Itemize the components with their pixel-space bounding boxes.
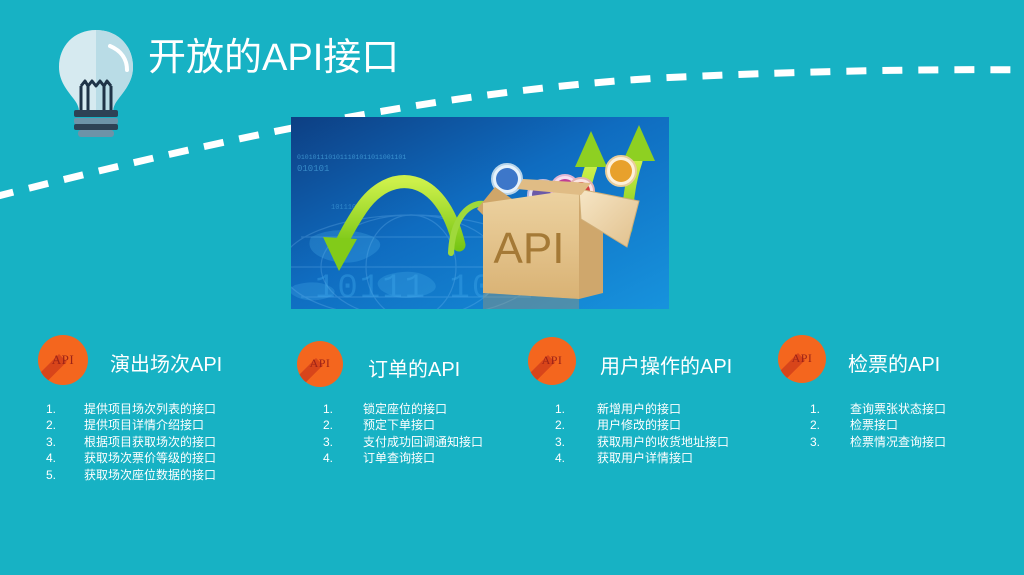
api-column-list-1: 1. 提供项目场次列表的接口 2. 提供项目详情介绍接口 3. 根据项目获取场次… — [46, 401, 216, 483]
bulb-base-2 — [74, 118, 118, 124]
lightbulb-icon — [52, 24, 140, 140]
list-item-text: 检票情况查询接口 — [850, 434, 946, 450]
list-item-text: 支付成功回调通知接口 — [363, 434, 483, 450]
api-badge-1: API — [38, 335, 88, 385]
list-item-number: 1. — [323, 401, 363, 417]
api-column-list-4: 1. 查询票张状态接口 2. 检票接口 3. 检票情况查询接口 — [810, 401, 946, 450]
list-item: 1. 查询票张状态接口 — [810, 401, 946, 417]
api-badge-4: API — [778, 335, 826, 383]
list-item: 2. 预定下单接口 — [323, 417, 483, 433]
list-item-number: 4. — [555, 450, 597, 466]
list-item: 2. 检票接口 — [810, 417, 946, 433]
api-badge-label: API — [778, 351, 826, 366]
list-item: 4. 订单查询接口 — [323, 450, 483, 466]
list-item-text: 预定下单接口 — [363, 417, 435, 433]
api-column-list-3: 1. 新增用户的接口 2. 用户修改的接口 3. 获取用户的收货地址接口 4. … — [555, 401, 729, 467]
list-item-number: 1. — [46, 401, 84, 417]
list-item-text: 获取场次票价等级的接口 — [84, 450, 216, 466]
list-item-text: 提供项目详情介绍接口 — [84, 417, 204, 433]
list-item-number: 3. — [810, 434, 850, 450]
list-item-text: 根据项目获取场次的接口 — [84, 434, 216, 450]
list-item-number: 5. — [46, 467, 84, 483]
list-item: 1. 锁定座位的接口 — [323, 401, 483, 417]
list-item: 3. 根据项目获取场次的接口 — [46, 434, 216, 450]
list-item: 3. 获取用户的收货地址接口 — [555, 434, 729, 450]
list-item-number: 4. — [46, 450, 84, 466]
list-item: 4. 获取场次票价等级的接口 — [46, 450, 216, 466]
api-badge-3: API — [528, 337, 576, 385]
list-item-text: 订单查询接口 — [363, 450, 435, 466]
box-api-label: API — [494, 224, 565, 273]
list-item: 2. 用户修改的接口 — [555, 417, 729, 433]
list-item-number: 1. — [555, 401, 597, 417]
bulb-base-1 — [74, 110, 118, 117]
api-column-header-3: 用户操作的API — [600, 350, 732, 379]
list-item: 4. 获取用户详情接口 — [555, 450, 729, 466]
list-item-text: 查询票张状态接口 — [850, 401, 946, 417]
binary-text-2: 010101 — [297, 164, 329, 174]
list-item-number: 2. — [555, 417, 597, 433]
list-item-number: 3. — [46, 434, 84, 450]
list-item: 1. 提供项目场次列表的接口 — [46, 401, 216, 417]
list-item-text: 提供项目场次列表的接口 — [84, 401, 216, 417]
list-item: 5. 获取场次座位数据的接口 — [46, 467, 216, 483]
binary-text-1: 0101011101011101011011001101 — [297, 154, 406, 161]
list-item-number: 1. — [810, 401, 850, 417]
list-item-text: 获取用户详情接口 — [597, 450, 693, 466]
binary-text-4: 10111 10 — [315, 270, 494, 308]
list-item-text: 检票接口 — [850, 417, 898, 433]
api-badge-label: API — [38, 352, 88, 368]
list-item: 1. 新增用户的接口 — [555, 401, 729, 417]
list-item-number: 2. — [810, 417, 850, 433]
list-item-number: 3. — [555, 434, 597, 450]
list-item-number: 2. — [46, 417, 84, 433]
list-item-number: 4. — [323, 450, 363, 466]
api-column-list-2: 1. 锁定座位的接口 2. 预定下单接口 3. 支付成功回调通知接口 4. 订单… — [323, 401, 483, 467]
list-item-text: 用户修改的接口 — [597, 417, 681, 433]
list-item-text: 新增用户的接口 — [597, 401, 681, 417]
api-column-header-2: 订单的API — [368, 353, 460, 382]
api-column-header-1: 演出场次API — [110, 348, 222, 377]
api-illustration-canvas: 0101011101011101011011001101 010101 1011… — [291, 117, 669, 309]
slide-canvas: 开放的API接口 — [0, 0, 1024, 575]
bulb-base-tip — [78, 130, 114, 137]
api-box-illustration: 0101011101011101011011001101 010101 1011… — [291, 117, 669, 309]
api-badge-label: API — [297, 356, 343, 371]
bulb-base-3 — [74, 124, 118, 130]
list-item-number: 2. — [323, 417, 363, 433]
list-item-text: 锁定座位的接口 — [363, 401, 447, 417]
api-badge-label: API — [528, 353, 576, 368]
list-item: 2. 提供项目详情介绍接口 — [46, 417, 216, 433]
list-item: 3. 检票情况查询接口 — [810, 434, 946, 450]
list-item: 3. 支付成功回调通知接口 — [323, 434, 483, 450]
list-item-text: 获取场次座位数据的接口 — [84, 467, 216, 483]
list-item-number: 3. — [323, 434, 363, 450]
list-item-text: 获取用户的收货地址接口 — [597, 434, 729, 450]
api-column-header-4: 检票的API — [848, 348, 940, 377]
api-badge-2: API — [297, 341, 343, 387]
page-title: 开放的API接口 — [148, 32, 399, 84]
